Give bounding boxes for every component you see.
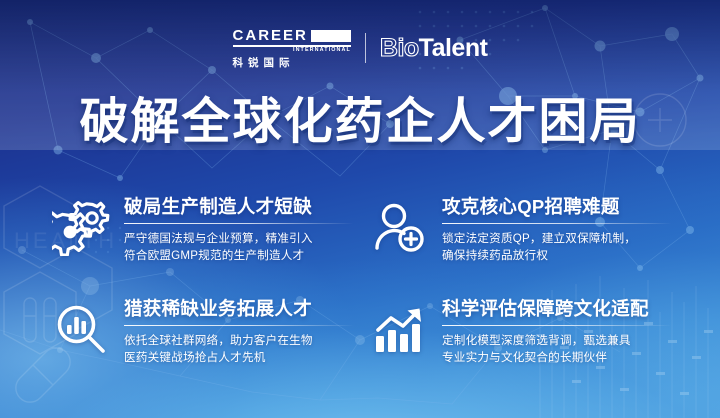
feature-text: 猎获稀缺业务拓展人才 依托全球社群网络，助力客户在生物 医药关键战场抢占人才先机: [124, 298, 354, 367]
feature-desc-line: 依托全球社群网络，助力客户在生物: [124, 332, 354, 349]
person-add-icon: [370, 198, 428, 256]
feature-desc-line: 锁定法定资质QP，建立双保障机制，: [442, 230, 672, 247]
feature-divider: [442, 223, 672, 225]
feature-item: 攻克核心QP招聘难题 锁定法定资质QP，建立双保障机制， 确保持续药品放行权: [370, 192, 672, 292]
poster-canvas: HEALTH CAREER: [0, 0, 720, 418]
career-wordmark: CAREER: [233, 28, 308, 43]
feature-divider: [124, 223, 354, 225]
career-subtitle: INTERNATIONAL: [293, 48, 351, 53]
biotalent-talent-text: Talent: [419, 36, 488, 61]
feature-description: 严守德国法规与企业预算，精准引入 符合欧盟GMP规范的生产制造人才: [124, 230, 354, 264]
biotalent-bio-text: Bio: [380, 36, 419, 61]
feature-description: 定制化模型深度筛选背调，甄选兼具 专业实力与文化契合的长期伙伴: [442, 332, 672, 366]
feature-text: 攻克核心QP招聘难题 锁定法定资质QP，建立双保障机制， 确保持续药品放行权: [442, 196, 672, 265]
feature-text: 科学评估保障跨文化适配 定制化模型深度筛选背调，甄选兼具 专业实力与文化契合的长…: [442, 298, 672, 367]
feature-item: 科学评估保障跨文化适配 定制化模型深度筛选背调，甄选兼具 专业实力与文化契合的长…: [370, 294, 672, 394]
feature-item: 猎获稀缺业务拓展人才 依托全球社群网络，助力客户在生物 医药关键战场抢占人才先机: [52, 294, 354, 394]
logo-divider: [365, 33, 366, 63]
logo-bar: CAREER INTERNATIONAL 科锐国际 Bio Talent: [0, 26, 720, 70]
feature-heading: 破局生产制造人才短缺: [124, 197, 354, 218]
feature-divider: [442, 325, 672, 327]
feature-desc-line: 医药关键战场抢占人才先机: [124, 349, 354, 366]
feature-text: 破局生产制造人才短缺 严守德国法规与企业预算，精准引入 符合欧盟GMP规范的生产…: [124, 196, 354, 265]
feature-divider: [124, 325, 354, 327]
feature-heading: 科学评估保障跨文化适配: [442, 299, 672, 320]
feature-desc-line: 确保持续药品放行权: [442, 247, 672, 264]
feature-desc-line: 符合欧盟GMP规范的生产制造人才: [124, 247, 354, 264]
gears-icon: [52, 198, 110, 256]
growth-arrow-icon: [370, 300, 428, 358]
feature-description: 锁定法定资质QP，建立双保障机制， 确保持续药品放行权: [442, 230, 672, 264]
career-chinese-name: 科锐国际: [233, 58, 295, 69]
feature-desc-line: 专业实力与文化契合的长期伙伴: [442, 349, 672, 366]
feature-description: 依托全球社群网络，助力客户在生物 医药关键战场抢占人才先机: [124, 332, 354, 366]
feature-item: 破局生产制造人才短缺 严守德国法规与企业预算，精准引入 符合欧盟GMP规范的生产…: [52, 192, 354, 292]
feature-heading: 猎获稀缺业务拓展人才: [124, 299, 354, 320]
search-chart-icon: [52, 300, 110, 358]
biotalent-logo: Bio Talent: [380, 36, 488, 61]
feature-desc-line: 严守德国法规与企业预算，精准引入: [124, 230, 354, 247]
feature-desc-line: 定制化模型深度筛选背调，甄选兼具: [442, 332, 672, 349]
career-logo-block: [311, 30, 351, 42]
career-international-logo: CAREER INTERNATIONAL 科锐国际: [233, 28, 351, 69]
page-title: 破解全球化药企人才困局: [0, 98, 720, 147]
feature-heading: 攻克核心QP招聘难题: [442, 197, 672, 218]
feature-grid: 破局生产制造人才短缺 严守德国法规与企业预算，精准引入 符合欧盟GMP规范的生产…: [52, 192, 672, 394]
